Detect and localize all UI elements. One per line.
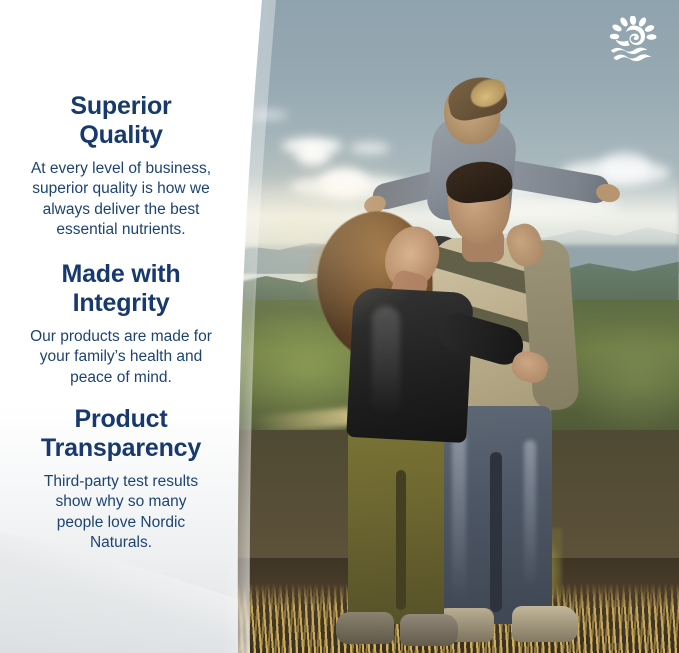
man-right-shoe [512,606,578,642]
man-jeans-highlight [524,440,536,590]
man-jeans-highlight [452,430,466,600]
promo-banner: Superior Quality At every level of busin… [0,0,679,653]
value-body: At every level of business, superior qua… [18,159,224,241]
woman-left-shoe [336,612,394,644]
woman-pants-shadow [396,470,406,610]
value-heading-line: Product [74,405,167,433]
value-body: Third-party test results show why so man… [33,472,209,554]
woman-right-shoe [400,614,458,646]
value-heading: Product Transparency [14,405,228,462]
value-heading-line: Quality [79,121,162,149]
woman-jacket-highlight [372,306,400,416]
value-heading-line: Transparency [41,434,201,462]
value-heading-line: Made with [61,260,180,288]
value-block-made-with-integrity: Made with Integrity Our products are mad… [14,260,228,388]
cloud [350,142,390,154]
value-block-superior-quality: Superior Quality At every level of busin… [14,92,228,241]
value-heading-line: Integrity [73,289,170,317]
value-block-product-transparency: Product Transparency Third-party test re… [14,405,228,554]
value-heading-line: Superior [70,92,171,120]
man-jeans-shadow [490,452,502,612]
value-propositions: Superior Quality At every level of busin… [0,0,248,653]
value-heading: Made with Integrity [14,260,228,317]
sun-waves-logo-icon [604,16,662,62]
value-heading: Superior Quality [14,92,228,149]
woman-leather-jacket [346,287,474,443]
cloud [296,144,330,166]
value-body: Our products are made for your family’s … [23,327,219,388]
